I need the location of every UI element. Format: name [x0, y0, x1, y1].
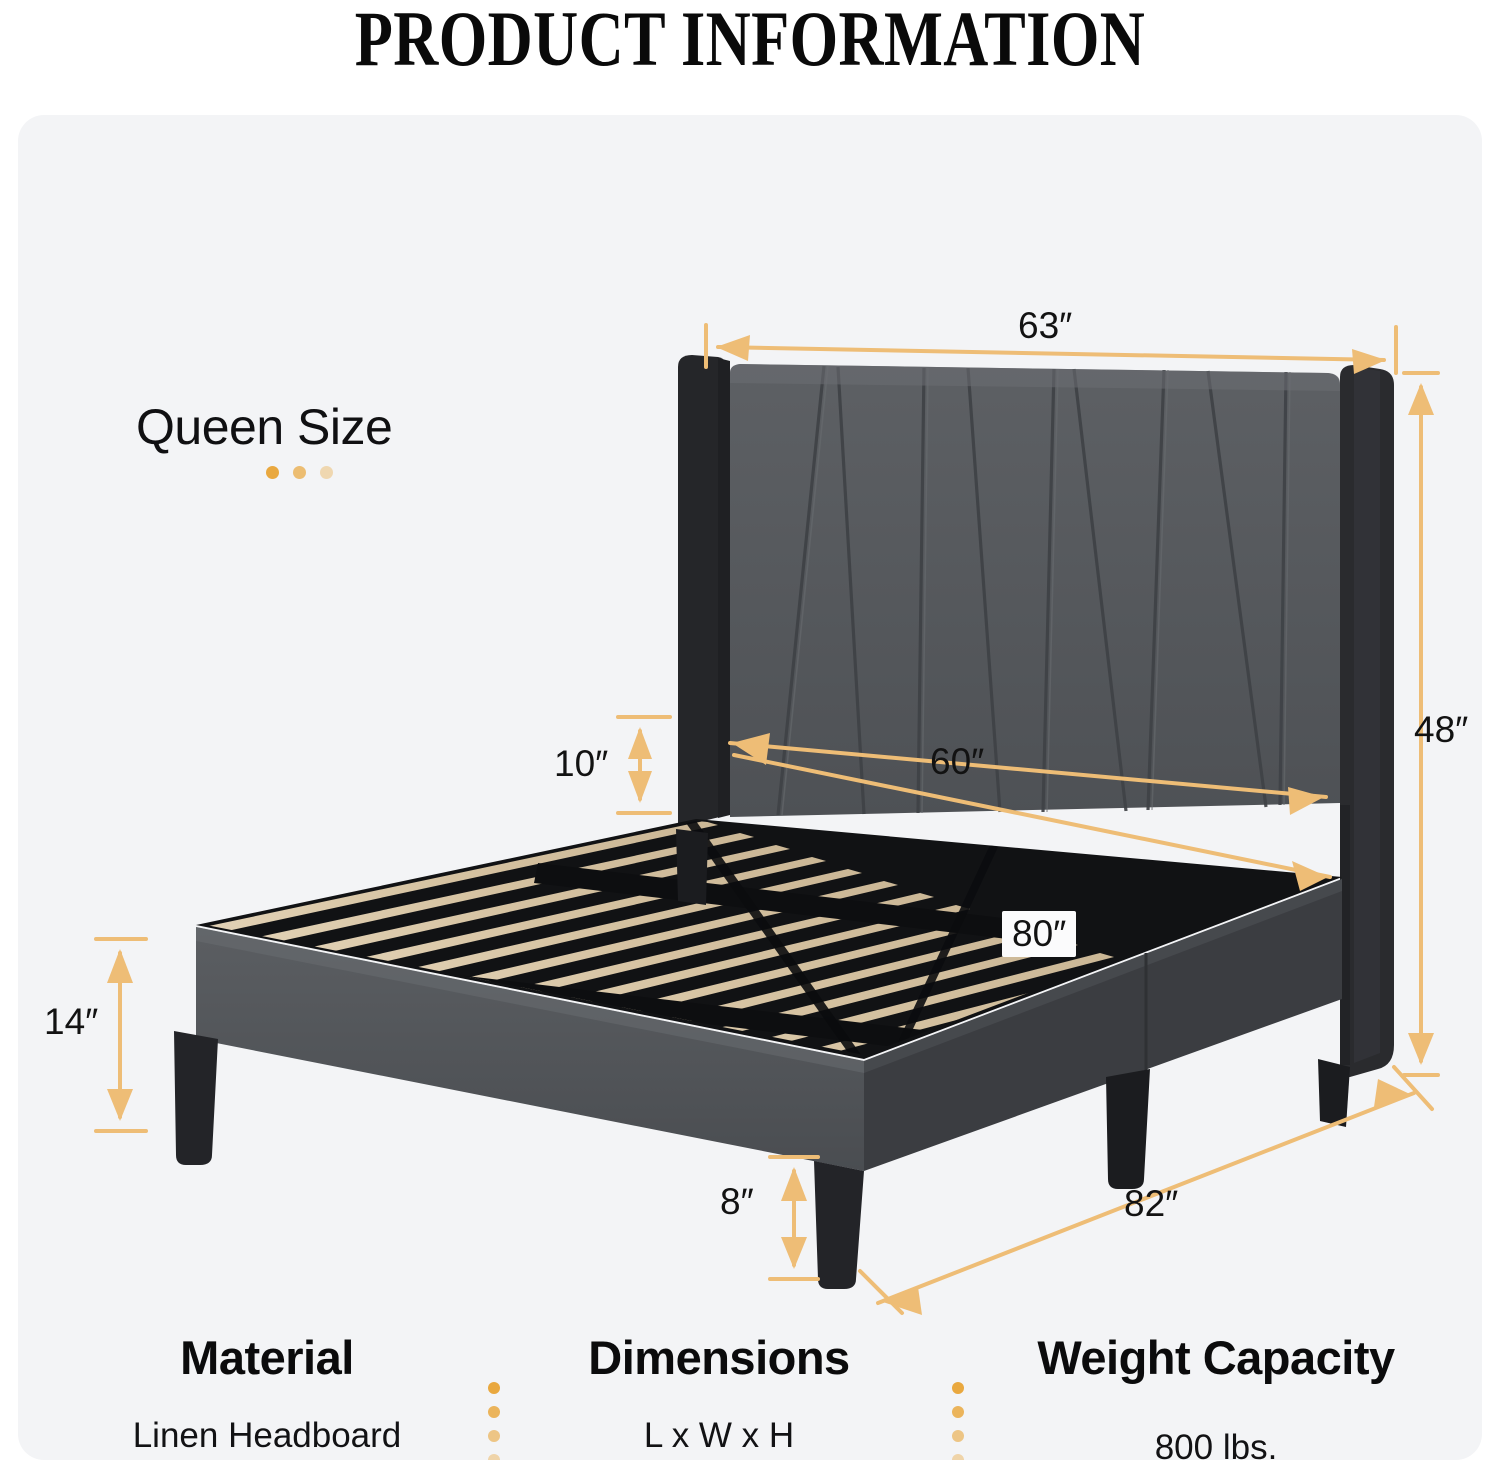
dimension-label-mattress-length: 80″	[1002, 911, 1076, 957]
dimension-label-mattress-width: 60″	[930, 741, 984, 783]
accent-dot	[952, 1382, 964, 1394]
accent-dot	[293, 466, 306, 479]
size-badge-label: Queen Size	[136, 398, 392, 456]
spec-heading-dimensions: Dimensions	[504, 1330, 934, 1385]
accent-dot	[952, 1406, 964, 1418]
spec-column-dimensions: Dimensions L x W x H 63″ x 82″ x 48″	[504, 1330, 934, 1460]
spec-divider-dots	[952, 1382, 964, 1460]
spec-item: 800 lbs.	[966, 1427, 1466, 1460]
spec-heading-material: Material	[52, 1330, 482, 1385]
dimension-label-frame-height: 14″	[44, 1001, 98, 1043]
spec-section: Material Linen Headboard Solid Wood Slat…	[36, 1330, 1482, 1460]
accent-dots	[266, 466, 333, 479]
spec-divider-dots	[488, 1382, 500, 1460]
accent-dot	[488, 1406, 500, 1418]
spec-item: Linen Headboard	[52, 1415, 482, 1456]
accent-dot	[952, 1454, 964, 1460]
spec-item: L x W x H	[504, 1415, 934, 1456]
accent-dot	[266, 466, 279, 479]
dimension-label-frame-length: 82″	[1124, 1183, 1178, 1225]
spec-column-material: Material Linen Headboard Solid Wood Slat…	[52, 1330, 482, 1460]
spec-column-weight-capacity: Weight Capacity 800 lbs.	[966, 1330, 1466, 1460]
dimension-label-headboard-gap: 10″	[554, 743, 608, 785]
dimension-label-headboard-width: 63″	[1018, 305, 1072, 347]
product-info-card: Queen Size 63″ 48″ 10″ 60″ 80″ 14″ 8″ 82…	[18, 115, 1482, 1460]
dimension-label-headboard-height: 48″	[1414, 709, 1468, 751]
accent-dot	[952, 1430, 964, 1442]
size-badge: Queen Size	[136, 398, 392, 456]
bed-diagram	[18, 115, 1482, 1460]
spec-heading-weight-capacity: Weight Capacity	[966, 1330, 1466, 1385]
dimension-label-leg-height: 8″	[720, 1181, 754, 1223]
accent-dot	[488, 1382, 500, 1394]
accent-dot	[488, 1430, 500, 1442]
page-title: PRODUCT INFORMATION	[150, 0, 1350, 84]
accent-dot	[488, 1454, 500, 1460]
accent-dot	[320, 466, 333, 479]
